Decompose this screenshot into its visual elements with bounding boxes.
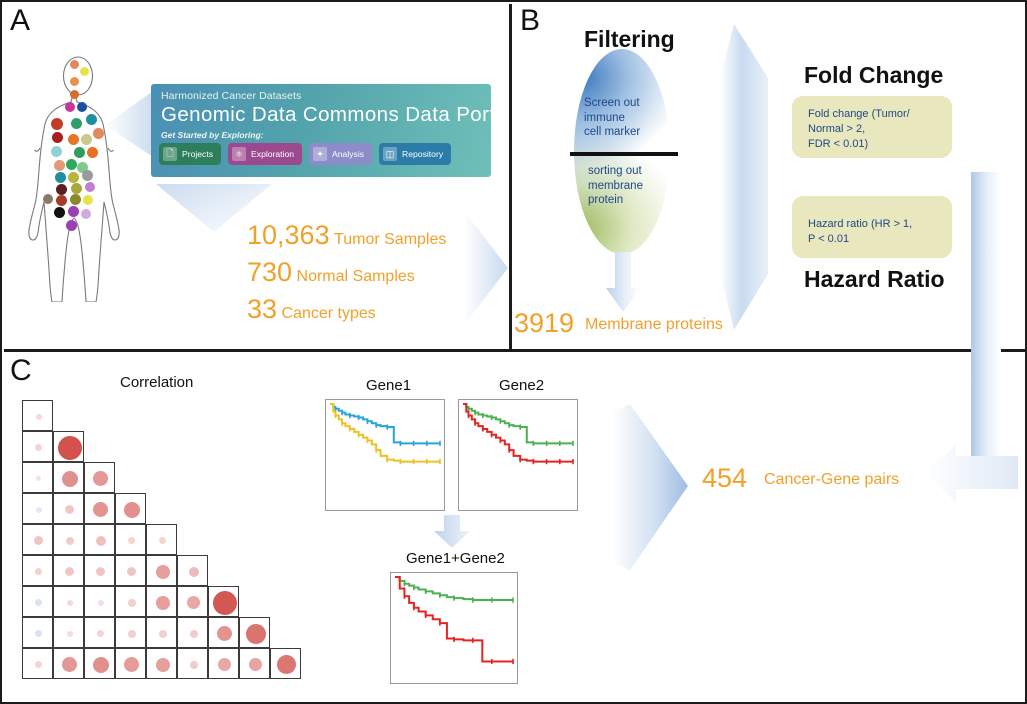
- cancer-type-dot: [77, 102, 87, 112]
- cancer-type-dot: [74, 147, 85, 158]
- correlation-dot: [190, 661, 198, 669]
- panel-c-letter: C: [10, 356, 32, 386]
- arrow-portal-to-body: [99, 89, 155, 159]
- correlation-cell: [22, 648, 53, 679]
- correlation-dot: [35, 444, 42, 451]
- cancer-type-dot: [70, 194, 81, 205]
- ellipse-divider-line: [570, 152, 678, 156]
- stat-normal-samples: 730 Normal Samples: [247, 257, 415, 288]
- panel-b: B Filtering Screen out immune cell marke…: [512, 4, 1027, 350]
- cancer-type-dot: [56, 195, 67, 206]
- hazard-ratio-title: Hazard Ratio: [804, 266, 945, 293]
- gdc-title: Genomic Data Commons Data Portal: [161, 103, 491, 127]
- analysis-icon: ✦: [313, 147, 327, 161]
- cancer-type-dot: [68, 172, 79, 183]
- stat-cancertypes-number: 33: [247, 294, 277, 324]
- correlation-dot: [156, 565, 170, 579]
- correlation-dot: [159, 630, 167, 638]
- fold-change-line-2: Normal > 2,: [808, 122, 910, 137]
- gdc-analysis-button[interactable]: ✦ Analysis: [309, 143, 372, 165]
- cancer-gene-pairs-number: 454: [702, 463, 747, 494]
- correlation-dot: [97, 630, 104, 637]
- cancer-type-dot: [80, 67, 89, 76]
- km-curve: [330, 404, 440, 443]
- correlation-cell: [84, 555, 115, 586]
- correlation-cell: [53, 462, 84, 493]
- km-curve: [463, 404, 573, 462]
- cancer-gene-pairs-label: Cancer-Gene pairs: [764, 471, 899, 489]
- correlation-dot: [156, 596, 170, 610]
- cancer-type-dot: [70, 60, 79, 69]
- correlation-dot: [35, 630, 42, 637]
- correlation-cell: [53, 524, 84, 555]
- stat-normal-label: Normal Samples: [297, 268, 415, 285]
- correlation-cell: [177, 555, 208, 586]
- correlation-dot: [35, 568, 42, 575]
- cancer-type-dot: [51, 146, 62, 157]
- correlation-dot: [159, 537, 166, 544]
- ellipse-bottom-line-3: protein: [588, 193, 643, 208]
- correlation-dot: [36, 507, 42, 513]
- correlation-dot: [128, 599, 136, 607]
- correlation-title: Correlation: [120, 374, 193, 391]
- stat-tumor-number: 10,363: [247, 220, 330, 250]
- correlation-cell: [115, 555, 146, 586]
- correlation-cell: [53, 431, 84, 462]
- correlation-dot: [213, 591, 237, 615]
- correlation-cell: [115, 648, 146, 679]
- correlation-cell: [84, 462, 115, 493]
- file-copy-icon: 🗋: [163, 147, 177, 161]
- correlation-cell: [115, 493, 146, 524]
- hazard-line-2: P < 0.01: [808, 232, 912, 247]
- correlation-dot: [218, 658, 231, 671]
- gdc-repository-label: Repository: [402, 149, 443, 159]
- correlation-dot: [58, 436, 82, 460]
- correlation-cell: [146, 648, 177, 679]
- cancer-type-dot: [70, 77, 79, 86]
- correlation-dot: [35, 661, 42, 668]
- ellipse-bottom-text: sorting out membrane protein: [588, 164, 643, 208]
- membrane-proteins-label: Membrane proteins: [585, 316, 723, 334]
- correlation-dot: [124, 657, 139, 672]
- panel-a: A: [4, 4, 510, 350]
- correlation-dot: [65, 567, 74, 576]
- km-gene2-plot: [458, 399, 578, 511]
- cancer-type-dot: [81, 134, 92, 145]
- correlation-cell: [22, 431, 53, 462]
- correlation-cell: [146, 555, 177, 586]
- gdc-explore-label: Get Started by Exploring:: [161, 130, 264, 140]
- correlation-cell: [22, 617, 53, 648]
- ellipse-bottom-line-1: sorting out: [588, 164, 643, 179]
- correlation-cell: [177, 586, 208, 617]
- ellipse-top-line-1: Screen out: [584, 96, 640, 111]
- cancer-type-dot: [54, 207, 65, 218]
- correlation-dot: [62, 657, 77, 672]
- km-gene1-svg: [326, 400, 444, 510]
- correlation-dot: [96, 536, 106, 546]
- correlation-cell: [239, 648, 270, 679]
- km-curve: [395, 577, 513, 661]
- stat-normal-number: 730: [247, 257, 292, 287]
- gdc-button-row: 🗋 Projects ⚛ Exploration ✦ Analysis ◫ Re…: [159, 143, 451, 165]
- correlation-dot: [277, 655, 296, 674]
- correlation-dot: [96, 567, 105, 576]
- correlation-cell: [22, 493, 53, 524]
- km-combined-svg: [391, 573, 517, 683]
- correlation-cell: [115, 617, 146, 648]
- correlation-cell: [146, 617, 177, 648]
- correlation-dot: [217, 626, 232, 641]
- cancer-type-dot: [55, 172, 66, 183]
- panel-a-letter: A: [10, 6, 30, 36]
- figure-root: A: [0, 0, 1027, 704]
- gdc-repository-button[interactable]: ◫ Repository: [379, 143, 451, 165]
- cancer-type-dot: [54, 160, 65, 171]
- cancer-type-dot: [51, 118, 63, 130]
- correlation-dot: [249, 658, 262, 671]
- km-gene2-svg: [459, 400, 577, 510]
- cancer-type-dot: [83, 195, 93, 205]
- correlation-cell: [115, 586, 146, 617]
- correlation-cell: [84, 524, 115, 555]
- correlation-dot: [128, 630, 136, 638]
- correlation-dot: [34, 536, 43, 545]
- gdc-exploration-button[interactable]: ⚛ Exploration: [228, 143, 302, 165]
- correlation-cell: [53, 586, 84, 617]
- correlation-cell: [53, 648, 84, 679]
- gdc-projects-label: Projects: [182, 149, 213, 159]
- correlation-dot: [66, 537, 74, 545]
- database-icon: ◫: [383, 147, 397, 161]
- correlation-dot: [189, 567, 199, 577]
- hazard-line-1: Hazard ratio (HR > 1,: [808, 217, 912, 232]
- correlation-cell: [239, 617, 270, 648]
- correlation-dot: [93, 471, 108, 486]
- correlation-cell: [84, 586, 115, 617]
- fold-change-title: Fold Change: [804, 62, 943, 89]
- km-combined-plot: [390, 572, 518, 684]
- correlation-cell: [22, 462, 53, 493]
- stat-cancer-types: 33 Cancer types: [247, 294, 376, 325]
- correlation-cell: [22, 524, 53, 555]
- cancer-type-dot: [66, 159, 77, 170]
- gdc-exploration-label: Exploration: [251, 149, 294, 159]
- correlation-cell: [115, 524, 146, 555]
- cancer-type-dot: [56, 184, 67, 195]
- correlation-cell: [84, 617, 115, 648]
- correlation-dot: [187, 596, 200, 609]
- gdc-projects-button[interactable]: 🗋 Projects: [159, 143, 221, 165]
- correlation-cell: [53, 555, 84, 586]
- correlation-cell: [270, 648, 301, 679]
- cancer-type-dot: [66, 220, 77, 231]
- correlation-cell: [22, 586, 53, 617]
- ellipse-top-line-3: cell marker: [584, 125, 640, 140]
- stat-tumor-label: Tumor Samples: [334, 231, 446, 248]
- arrow-ellipse-down: [604, 252, 642, 314]
- arrow-into-result-left: [922, 442, 1020, 504]
- correlation-dot: [190, 630, 198, 638]
- correlation-dot: [62, 471, 78, 487]
- stat-cancertypes-label: Cancer types: [282, 305, 376, 322]
- correlation-cell: [177, 648, 208, 679]
- cancer-type-dot: [52, 132, 63, 143]
- cancer-type-dot: [43, 194, 53, 204]
- fold-change-line-3: FDR < 0.01): [808, 137, 910, 152]
- correlation-cell: [208, 617, 239, 648]
- correlation-cell: [146, 524, 177, 555]
- km-curve: [463, 404, 573, 443]
- correlation-dot: [93, 657, 109, 673]
- cancer-type-dot: [81, 209, 91, 219]
- filtering-title: Filtering: [584, 26, 675, 53]
- correlation-dot: [35, 599, 42, 606]
- correlation-dot: [128, 537, 135, 544]
- cancer-type-dot: [70, 90, 79, 99]
- correlation-cell: [22, 400, 53, 431]
- km-combined-title: Gene1+Gene2: [406, 550, 505, 567]
- correlation-cell: [84, 493, 115, 524]
- fold-change-criteria-text: Fold change (Tumor/ Normal > 2, FDR < 0.…: [808, 107, 910, 152]
- stat-tumor-samples: 10,363 Tumor Samples: [247, 220, 446, 251]
- gdc-subtitle: Harmonized Cancer Datasets: [161, 90, 301, 102]
- correlation-cell: [208, 648, 239, 679]
- gdc-portal-card[interactable]: Harmonized Cancer Datasets Genomic Data …: [151, 84, 491, 177]
- correlation-dot: [98, 600, 104, 606]
- correlation-cell: [53, 617, 84, 648]
- hazard-criteria-text: Hazard ratio (HR > 1, P < 0.01: [808, 217, 912, 247]
- correlation-cell: [208, 586, 239, 617]
- cancer-type-dot: [82, 170, 93, 181]
- correlation-cell: [53, 493, 84, 524]
- fold-change-line-1: Fold change (Tumor/: [808, 107, 910, 122]
- correlation-cell: [84, 648, 115, 679]
- cancer-type-dot: [71, 118, 82, 129]
- km-curve: [330, 404, 440, 462]
- correlation-cell: [146, 586, 177, 617]
- cancer-type-dot: [86, 114, 97, 125]
- correlation-dot: [65, 505, 74, 514]
- km-gene2-title: Gene2: [499, 377, 544, 394]
- correlation-dot: [36, 476, 41, 481]
- correlation-dot: [246, 624, 266, 644]
- panel-b-letter: B: [520, 6, 540, 36]
- correlation-dot: [124, 502, 140, 518]
- cancer-type-dot: [68, 206, 79, 217]
- km-gene1-plot: [325, 399, 445, 511]
- gdc-analysis-label: Analysis: [332, 149, 364, 159]
- arrow-to-combined: [432, 515, 472, 549]
- membrane-proteins-number: 3919: [514, 308, 574, 339]
- correlation-dot: [67, 600, 73, 606]
- molecule-icon: ⚛: [232, 147, 246, 161]
- cancer-type-dot: [71, 183, 82, 194]
- correlation-dot: [127, 567, 136, 576]
- ellipse-top-line-2: immune: [584, 111, 640, 126]
- correlation-dot: [93, 502, 108, 517]
- ellipse-top-text: Screen out immune cell marker: [584, 96, 640, 140]
- cancer-type-dot: [85, 182, 95, 192]
- ellipse-bottom-line-2: membrane: [588, 179, 643, 194]
- km-gene1-title: Gene1: [366, 377, 411, 394]
- correlation-cell: [22, 555, 53, 586]
- correlation-cell: [177, 617, 208, 648]
- correlation-dot: [156, 658, 170, 672]
- cancer-type-dot: [87, 147, 98, 158]
- correlation-dot: [67, 631, 73, 637]
- arrow-filter-to-criteria: [698, 22, 770, 332]
- cancer-type-dot: [65, 102, 75, 112]
- arrow-a-to-b: [462, 209, 510, 327]
- correlation-dot: [36, 414, 42, 420]
- cancer-type-dot: [68, 134, 79, 145]
